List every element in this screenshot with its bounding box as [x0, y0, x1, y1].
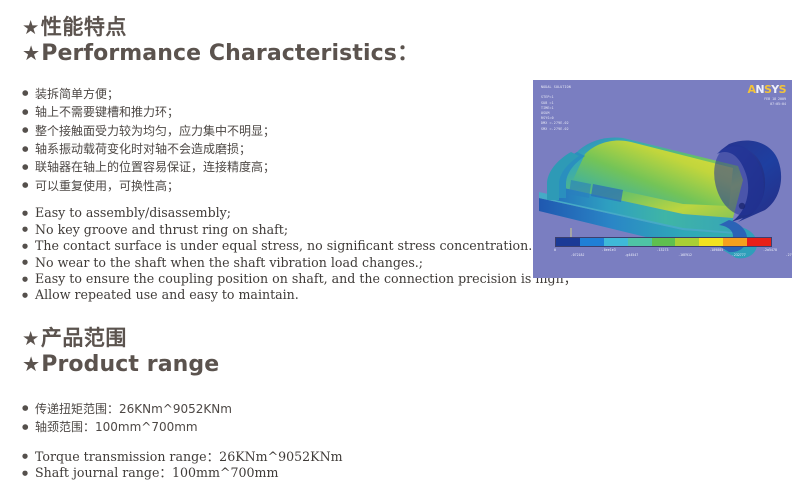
product-range-bullets-en: Torque transmission range：26KNm^9052KNm … [22, 449, 522, 481]
product-range-section: ★产品范围 ★Product range 传递扭矩范围：26KNm^9052KN… [22, 325, 522, 481]
list-item: The contact surface is under equal stres… [22, 238, 522, 254]
legend-tick: .2a5478 [763, 248, 777, 252]
list-item: Allow repeated use and easy to maintain. [22, 287, 522, 303]
figure-timestamp: FEB 18 2009 07:05:04 [747, 97, 786, 107]
list-item: Shaft journal range：100mm^700mm [22, 465, 522, 481]
list-item: 可以重复使用，可换性高； [22, 177, 522, 195]
performance-section: ★性能特点 ★Performance Characteristics： 装拆简单… [22, 14, 522, 304]
star-icon: ★ [22, 352, 40, 376]
list-item: 传递扭矩范围：26KNm^9052KNm [22, 400, 522, 418]
legend-tick: .189885 [709, 248, 723, 252]
legend-band-2 [604, 238, 628, 246]
legend-tick-labels: 0.0ee1e3.13273.189885.2a5478.07218J.g445… [555, 248, 770, 260]
list-item: 轴上不需要键槽和推力环； [22, 103, 522, 121]
list-item: Easy to ensure the coupling position on … [22, 271, 522, 287]
legend-tick: .16E912 [678, 253, 692, 257]
product-range-heading-cn-text: 产品范围 [41, 326, 127, 350]
product-range-heading-block: ★产品范围 ★Product range [22, 325, 522, 380]
star-icon: ★ [22, 16, 40, 39]
ansys-letter-s2: S [779, 83, 786, 96]
list-item: 整个接触面受力较为均匀，应力集中不明显； [22, 122, 522, 140]
figure-annotation-text: NODAL SOLUTION STEP=1 SUB =1 TIME=1 USUM… [541, 85, 571, 132]
legend-tick: 0 [554, 248, 556, 252]
legend-tick: .07218J [571, 253, 585, 257]
product-range-heading-en-text: Product range [41, 352, 219, 377]
product-range-bullets-cn: 传递扭矩范围：26KNm^9052KNm 轴颈范围：100mm^700mm [22, 400, 522, 437]
legend-tick: .0ee1e3 [602, 248, 616, 252]
legend-tick: .13273 [657, 248, 669, 252]
legend-tick: .g44547 [624, 253, 638, 257]
performance-heading-block: ★性能特点 ★Performance Characteristics： [22, 14, 522, 69]
performance-heading-cn: ★性能特点 [22, 14, 522, 40]
legend-band-1 [580, 238, 604, 246]
list-item: 轴系振动载荷变化时对轴不会造成磨损； [22, 140, 522, 158]
legend-tick: .279E02 [786, 253, 792, 257]
performance-heading-cn-text: 性能特点 [41, 15, 127, 39]
legend-band-8 [747, 238, 771, 246]
legend-band-4 [652, 238, 676, 246]
ansys-wordmark: ANSYS [747, 84, 786, 95]
ansys-letter-y: Y [771, 83, 778, 96]
legend-tick: .232777 [732, 253, 746, 257]
list-item: No wear to the shaft when the shaft vibr… [22, 255, 522, 271]
list-item: 装拆简单方便； [22, 85, 522, 103]
list-item: Easy to assembly/disassembly; [22, 205, 522, 221]
legend-band-6 [699, 238, 723, 246]
legend-color-bar [555, 237, 772, 247]
list-item: 联轴器在轴上的位置容易保证，连接精度高； [22, 158, 522, 176]
performance-heading-en-text: Performance Characteristics： [41, 41, 419, 66]
star-icon: ★ [22, 41, 40, 65]
stress-color-legend: 0.0ee1e3.13273.189885.2a5478.07218J.g445… [555, 237, 770, 260]
list-item: 轴颈范围：100mm^700mm [22, 418, 522, 436]
legend-band-3 [628, 238, 652, 246]
performance-bullets-en: Easy to assembly/disassembly; No key gro… [22, 205, 522, 303]
ansys-letter-n: N [755, 83, 764, 96]
ansys-logo: ANSYS FEB 18 2009 07:05:04 [747, 84, 786, 107]
performance-heading-en: ★Performance Characteristics： [22, 40, 522, 69]
star-icon: ★ [22, 327, 40, 350]
list-item: Torque transmission range：26KNm^9052KNm [22, 449, 522, 465]
product-range-heading-cn: ★产品范围 [22, 325, 522, 351]
ansys-simulation-figure: NODAL SOLUTION STEP=1 SUB =1 TIME=1 USUM… [533, 80, 792, 278]
legend-band-0 [556, 238, 580, 246]
performance-bullets-cn: 装拆简单方便； 轴上不需要键槽和推力环； 整个接触面受力较为均匀，应力集中不明显… [22, 85, 522, 195]
list-item: No key groove and thrust ring on shaft; [22, 222, 522, 238]
legend-band-5 [675, 238, 699, 246]
legend-band-7 [723, 238, 747, 246]
product-range-heading-en: ★Product range [22, 351, 522, 380]
